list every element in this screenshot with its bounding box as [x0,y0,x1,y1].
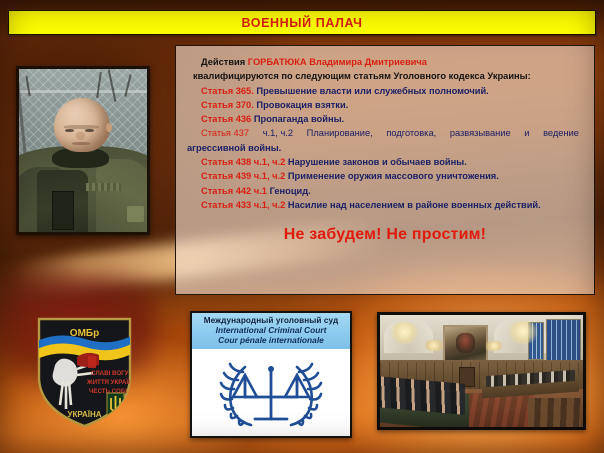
article-number: Статья 437 [201,126,249,140]
article-437-line: Статья 437 ч.1, ч.2 Планирование, подгот… [187,126,583,140]
patch-motto-2: ЖИТТЯ УКРАЇНІ [86,379,135,386]
article-word: и [524,126,529,140]
portrait-mouth [72,142,90,145]
article-line: Статья 436 Пропаганда войны. [187,112,583,126]
article-parts: ч.1, ч.2 [263,126,293,140]
article-number: Статья 436 [201,114,251,124]
scales-of-justice-icon [211,351,331,431]
article-text: Провокация взятки. [256,100,348,110]
article-text: Пропаганда войны. [254,114,344,124]
article-number: Статья 433 ч.1, ч.2 [201,200,285,210]
courtroom-photo [377,312,586,430]
patch-svg: СЛАВІ ВОГУ ЖИТТЯ УКРАЇНІ ЧЕСТЬ СОБІ ОМБр… [33,313,136,431]
courtroom-chairs [528,398,581,427]
article-word: развязывание [450,126,511,140]
icc-emblem [192,349,350,433]
icc-title-english: International Criminal Court [194,325,348,335]
article-line: Статья 442 ч.1 Геноцид. [187,184,583,198]
article-number: Статья 442 ч.1 [201,186,267,196]
intro-line-1: Действия ГОРБАТЮКА Владимира Дмитриевича [187,55,583,69]
icc-title-russian: Международный уголовный суд [194,316,348,325]
courtroom-mural-figure [456,333,475,353]
article-line: Статья 370. Провокация взятки. [187,98,583,112]
portrait-nose [76,132,85,140]
article-word: Планирование, [307,126,373,140]
courtroom-stained-glass-window [546,319,581,364]
icc-header-band: Международный уголовный суд Internationa… [192,313,350,349]
page-title: ВОЕННЫЙ ПАЛАЧ [241,16,362,30]
courtroom-pendant-lamp [484,341,504,351]
portrait-eye-left [65,129,74,132]
charges-text-panel: Действия ГОРБАТЮКА Владимира Дмитриевича… [175,45,595,295]
patch-country-text: УКРАЇНА [67,410,101,419]
intro-line-2: квалифицируются по следующим статьям Уго… [187,69,583,83]
article-line: Статья 365. Превышение власти или служеб… [187,84,583,98]
intro-prefix: Действия [201,57,248,67]
article-437-continuation: агрессивной войны. [187,141,583,155]
portrait-shoulder-right [96,159,150,235]
article-text: Насилие над населением в районе военных … [288,200,541,210]
slogan-text: Не забудем! Не простим! [187,226,583,244]
military-brigade-patch: СЛАВІ ВОГУ ЖИТТЯ УКРАЇНІ ЧЕСТЬ СОБІ ОМБр… [33,313,136,431]
patch-motto-1: СЛАВІ ВОГУ [91,370,129,377]
portrait-vest-pouch [52,191,74,230]
article-text: Превышение власти или служебных полномоч… [256,86,488,96]
courtroom-mural [443,325,488,362]
article-line: Статья 433 ч.1, ч.2 Насилие над населени… [187,198,583,212]
slide-root: ВОЕННЫЙ ПАЛАЧ Действия ГОРБАТЮКА Владими… [0,0,604,453]
portrait-photo [16,66,150,235]
icc-title-french: Cour pénale internationale [194,335,348,345]
portrait-head [54,98,110,152]
portrait-fence-rail [19,90,147,93]
article-number: Статья 439 ч.1, ч.2 [201,171,285,181]
article-text: Геноцид. [270,186,311,196]
article-word: ведение [543,126,579,140]
article-number: Статья 365. [201,86,254,96]
article-number: Статья 370. [201,100,254,110]
article-number: Статья 438 ч.1, ч.2 [201,157,285,167]
article-text: Нарушение законов и обычаев войны. [288,157,467,167]
portrait-chest-patch [86,183,122,191]
icc-plaque: Международный уголовный суд Internationa… [190,311,352,438]
courtroom-pendant-lamp [423,340,445,351]
patch-unit-text: ОМБр [70,328,99,339]
portrait-eye-right [85,129,94,132]
article-line: Статья 438 ч.1, ч.2 Нарушение законов и … [187,155,583,169]
article-word: подготовка, [386,126,436,140]
accused-name: ГОРБАТЮКА Владимира Дмитриевича [248,57,427,67]
courtroom-chandelier [388,322,420,344]
article-text: Применение оружия массового уничтожения. [288,171,499,181]
title-banner: ВОЕННЫЙ ПАЛАЧ [8,10,596,35]
article-line: Статья 439 ч.1, ч.2 Применение оружия ма… [187,169,583,183]
portrait-arm-patch [127,206,145,222]
